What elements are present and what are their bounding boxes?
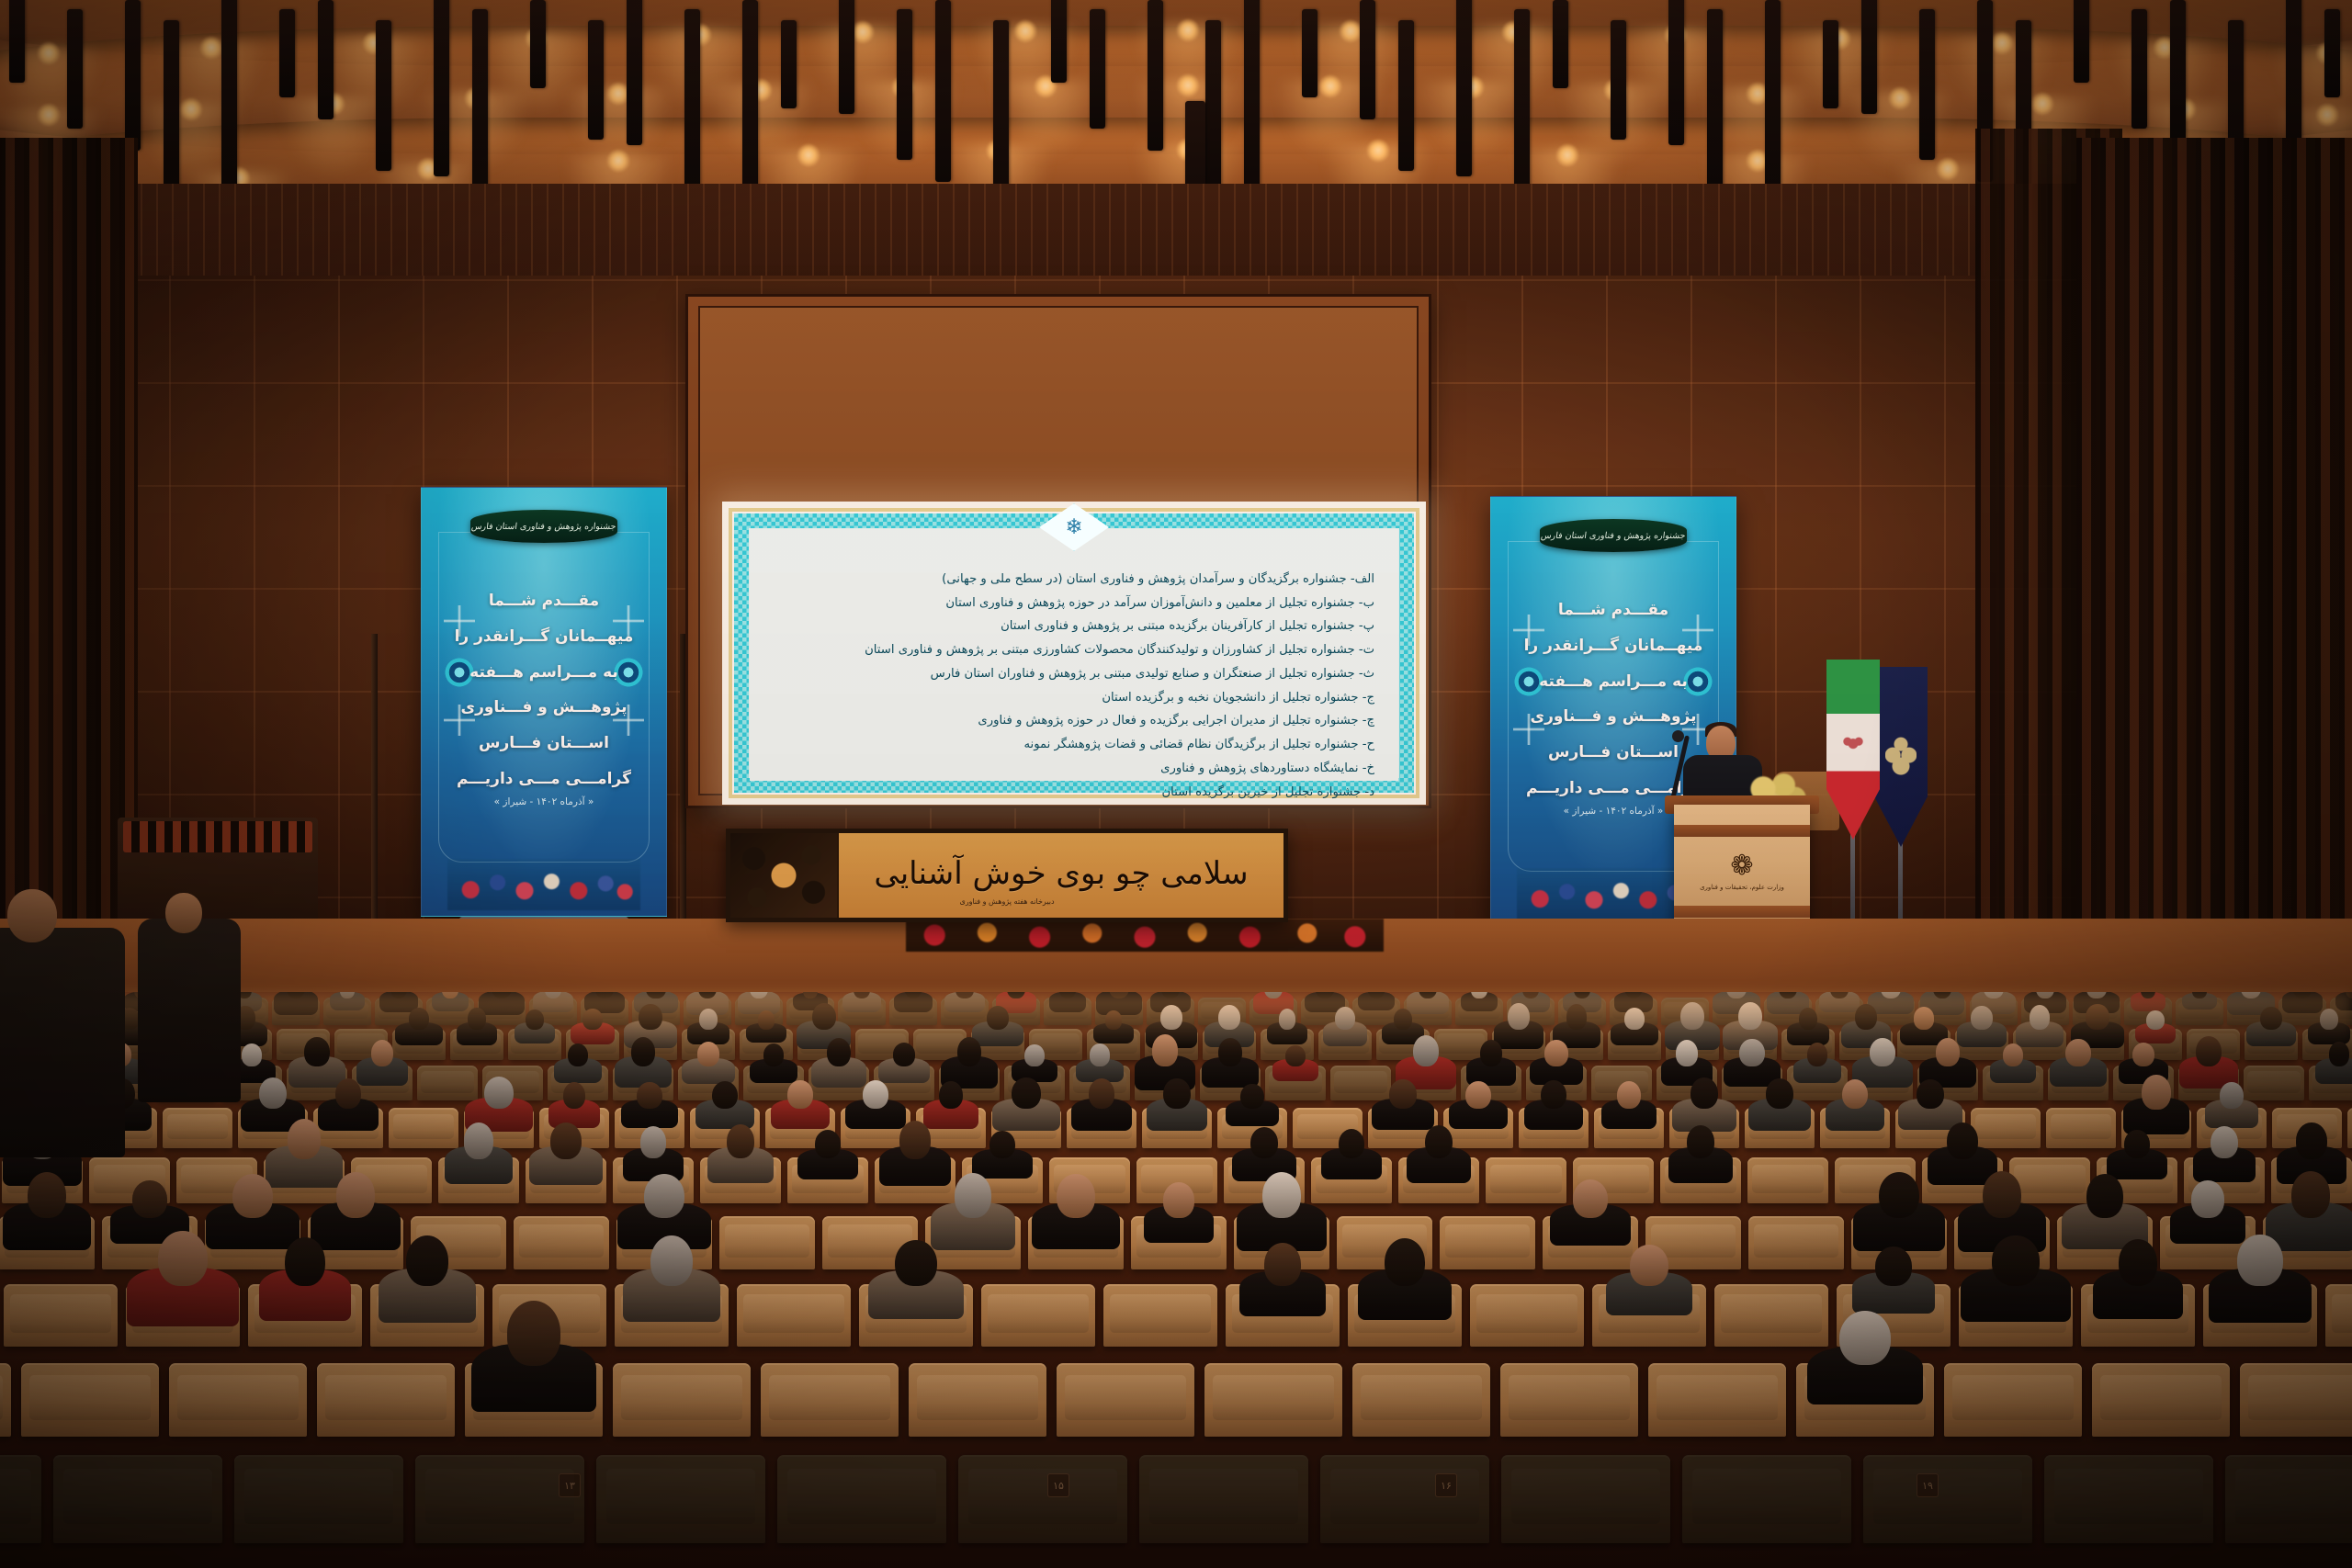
slide-line: د- جشنواره تجلیل از خیرین برگزیده استان: [774, 781, 1374, 805]
stage-curtain-right: [2076, 138, 2352, 1020]
acoustic-baffle-icon: [2074, 0, 2089, 83]
audience-member: [640, 1126, 667, 1158]
auditorium-seat[interactable]: [1352, 1363, 1490, 1437]
auditorium-seat[interactable]: [1863, 1455, 2032, 1543]
acoustic-baffle-icon: [1765, 0, 1781, 213]
acoustic-baffle-icon: [1148, 0, 1163, 151]
audience-member: [563, 1082, 586, 1109]
auditorium-seat[interactable]: [1747, 1157, 1828, 1203]
audience-member: [406, 1235, 448, 1287]
auditorium-seat[interactable]: [737, 1284, 851, 1347]
auditorium-seat[interactable]: [1057, 1363, 1194, 1437]
auditorium-seat[interactable]: [2046, 1108, 2116, 1148]
audience-member: [1983, 1171, 2020, 1218]
audience-member: [863, 1080, 888, 1109]
auditorium-seat[interactable]: [613, 1363, 751, 1437]
audience-member: [1541, 1080, 1566, 1110]
audience-member: [1687, 1125, 1715, 1159]
crest-glyph: ❄: [1065, 517, 1082, 538]
acoustic-baffle-icon: [67, 9, 83, 129]
seat-number-plate: ۱۵: [1047, 1473, 1069, 1497]
audience-member: [2191, 1180, 2223, 1218]
audience-member: [1163, 1182, 1193, 1217]
acoustic-baffle-icon: [1456, 0, 1472, 176]
audience-member: [650, 1235, 693, 1286]
auditorium-seat[interactable]: [1330, 1066, 1391, 1100]
auditorium-seat[interactable]: [2044, 1455, 2213, 1543]
banner-line: پژوهـــش و فـــناوری: [422, 690, 666, 726]
audience-member: [1617, 1081, 1641, 1109]
acoustic-baffle-icon: [1919, 9, 1935, 160]
banner-line: میهــمانان گـــرانقدر را: [422, 619, 666, 655]
standing-attendee-foreground: [0, 928, 125, 1157]
audience-member: [1766, 1078, 1793, 1109]
auditorium-seat[interactable]: [2225, 1455, 2352, 1543]
slide-content-area: الف- جشنواره برگزیدگان و سرآمدان پژوهش و…: [750, 529, 1398, 781]
auditorium-seat[interactable]: [163, 1108, 232, 1148]
stage-calligraphy-banner: سلامی چو بوی خوش آشنایی دبیرخانه هفته پژ…: [726, 829, 1288, 922]
acoustic-baffle-icon: [1398, 20, 1414, 171]
auditorium-seat[interactable]: [1648, 1363, 1786, 1437]
auditorium-seat[interactable]: [1944, 1363, 2082, 1437]
audience-member: [1250, 1127, 1278, 1158]
banner-badge-text: جشنواره پژوهش و فناوری استان فارس: [1541, 531, 1687, 541]
projected-slide: ❄ الف- جشنواره برگزیدگان و سرآمدان پژوهش…: [722, 502, 1426, 805]
persian-medallion-icon: [730, 833, 839, 918]
slide-line: ث- جشنواره تجلیل از صنعتگران و صنایع تول…: [774, 662, 1374, 686]
audience-member: [1089, 1078, 1115, 1110]
acoustic-baffle-icon: [9, 0, 25, 83]
banner-date-text: « آذرماه ۱۴۰۲ - شیراز »: [422, 796, 666, 807]
acoustic-baffle-icon: [221, 0, 237, 208]
audience-member: [1992, 1235, 2040, 1286]
audience-member: [1842, 1079, 1868, 1110]
auditorium-seat[interactable]: [169, 1363, 307, 1437]
audience-member: [939, 1081, 963, 1110]
slide-line: پ- جشنواره تجلیل از کارآفرینان برگزیده م…: [774, 615, 1374, 638]
auditorium-seat[interactable]: [317, 1363, 455, 1437]
aisle-light-glow: [0, 994, 2352, 1049]
audience-member: [1262, 1172, 1301, 1218]
acoustic-baffle-icon: [684, 9, 700, 191]
auditorium-seat[interactable]: [1748, 1216, 1844, 1269]
auditorium-seat[interactable]: [777, 1455, 946, 1543]
auditorium-seat[interactable]: [1103, 1284, 1217, 1347]
acoustic-baffle-icon: [1668, 0, 1684, 145]
audience-member: [2220, 1082, 2243, 1109]
slide-line: خ- نمایشگاه دستاوردهای پژوهش و فناوری: [774, 757, 1374, 781]
acoustic-baffle-icon: [1611, 20, 1626, 140]
banner-line: اســـتان فـــارس: [422, 726, 666, 761]
audience-member: [1389, 1079, 1416, 1109]
auditorium-seat[interactable]: [514, 1216, 609, 1269]
banner-title-badge: جشنواره پژوهش و فناوری استان فارس: [470, 510, 617, 543]
acoustic-baffle-icon: [1302, 9, 1317, 97]
calligraphy-text: سلامی چو بوی خوش آشنایی: [839, 858, 1283, 893]
banner-line: به مـــراسم هـــفته: [422, 655, 666, 691]
podium: ❁ وزارت علوم، تحقیقات و فناوری: [1674, 805, 1810, 928]
acoustic-baffle-icon: [1707, 9, 1723, 191]
acoustic-baffle-icon: [1823, 20, 1838, 108]
audience-member: [335, 1078, 361, 1110]
auditorium-seat[interactable]: [1204, 1363, 1342, 1437]
auditorium-seat[interactable]: [958, 1455, 1127, 1543]
audience-member: [1240, 1084, 1263, 1109]
ministry-of-science-logo-icon: ❁: [1730, 852, 1753, 880]
audience-member: [1385, 1238, 1425, 1287]
slide-line: ذ- جشنواره تخصصی تجلیل از بانوان فعال در…: [774, 804, 1374, 805]
audience-member: [288, 1119, 322, 1159]
acoustic-baffle-icon: [588, 20, 604, 140]
acoustic-baffle-icon: [164, 20, 179, 202]
auditorium-seat[interactable]: [53, 1455, 222, 1543]
banner-line: پژوهـــش و فـــناوری: [1491, 699, 1736, 735]
audience-member: [727, 1124, 755, 1159]
auditorium-seat[interactable]: [21, 1363, 159, 1437]
auditorium-seat[interactable]: [1682, 1455, 1851, 1543]
auditorium-seat[interactable]: [1470, 1284, 1584, 1347]
auditorium-seat[interactable]: [0, 1455, 41, 1543]
auditorium-seat[interactable]: [1486, 1157, 1566, 1203]
auditorium-seat[interactable]: [417, 1066, 478, 1100]
acoustic-baffle-icon: [279, 9, 295, 97]
banner-line: گرامـــی مـــی داریـــم: [422, 761, 666, 797]
acoustic-baffle-icon: [376, 20, 391, 171]
auditorium-seat[interactable]: [0, 1363, 11, 1437]
audience-member: [336, 1172, 376, 1218]
standing-attendee-head: [7, 889, 57, 942]
auditorium-seat[interactable]: [415, 1455, 584, 1543]
audience-member: [464, 1122, 493, 1158]
auditorium-photo-scene: ❄ الف- جشنواره برگزیدگان و سرآمدان پژوهش…: [0, 0, 2352, 1568]
audience-member: [2142, 1075, 2170, 1110]
acoustic-baffle-icon: [125, 0, 141, 151]
downlight-beam: [278, 97, 389, 180]
auditorium-seat[interactable]: [2009, 1157, 2090, 1203]
acoustic-baffle-icon: [434, 0, 449, 176]
auditorium-seat[interactable]: [2347, 1108, 2352, 1148]
auditorium-seat[interactable]: [1971, 1108, 2041, 1148]
podium-trim-band: [1674, 825, 1810, 837]
audience-member: [1839, 1311, 1890, 1365]
audience-member: [1879, 1172, 1919, 1218]
audience-member: [1630, 1245, 1668, 1286]
downlight-beam: [1418, 81, 1528, 164]
audience-member: [2119, 1239, 2158, 1286]
audience-member: [484, 1077, 514, 1109]
audience-member: [2296, 1122, 2326, 1158]
acoustic-baffle-icon: [1553, 0, 1568, 88]
slide-line: ج- جشنواره تجلیل از دانشجویان نخبه و برگ…: [774, 686, 1374, 710]
audience-member: [895, 1240, 936, 1287]
auditorium-seat[interactable]: [2325, 1284, 2352, 1347]
acoustic-baffle-icon: [2170, 0, 2186, 151]
audience-member: [637, 1082, 661, 1110]
auditorium-seat[interactable]: [2240, 1363, 2352, 1437]
calligraphy-subtext: دبیرخانه هفته پژوهش و فناوری: [959, 897, 1054, 906]
auditorium-seat[interactable]: [761, 1363, 899, 1437]
seat-number-plate: ۱۳: [559, 1473, 581, 1497]
slide-line: ت- جشنواره تجلیل از کشاورزان و تولیدکنند…: [774, 638, 1374, 662]
podium-trim-band: [1674, 906, 1810, 918]
auditorium-seat[interactable]: [389, 1108, 458, 1148]
auditorium-seat[interactable]: [2092, 1363, 2230, 1437]
auditorium-seat[interactable]: [1500, 1363, 1638, 1437]
banner-line: میهــمانان گـــرانقدر را: [1491, 628, 1736, 664]
acoustic-baffle-icon: [1051, 0, 1067, 83]
auditorium-seat[interactable]: [1139, 1455, 1308, 1543]
acoustic-baffle-icon: [2324, 9, 2340, 97]
audience-member: [132, 1180, 166, 1217]
audience-member: [1947, 1122, 1977, 1159]
acoustic-baffle-icon: [1205, 20, 1221, 202]
audience-member: [2086, 1174, 2124, 1218]
auditorium-seat[interactable]: [1501, 1455, 1670, 1543]
audience-member: [1573, 1179, 1608, 1218]
acoustic-baffle-icon: [2131, 9, 2147, 129]
audience-member: [712, 1081, 738, 1110]
audience-member: [550, 1122, 582, 1159]
seat-number-plate: ۱۶: [1435, 1473, 1457, 1497]
audience-member: [158, 1231, 207, 1287]
acoustic-baffle-icon: [1090, 9, 1105, 129]
banner-line: مقـــدم شـــما: [422, 583, 666, 619]
auditorium-seat[interactable]: [719, 1216, 815, 1269]
audience-member: [2291, 1171, 2331, 1218]
acoustic-baffle-icon: [781, 20, 797, 108]
standing-attendee-aisle: [138, 919, 241, 1102]
flower-border-icon: [447, 859, 640, 910]
audience-member: [955, 1173, 991, 1218]
audience-member: [1339, 1129, 1365, 1159]
audience-member: [899, 1121, 931, 1158]
banner-truss-left: [371, 634, 378, 937]
audience-member: [2211, 1126, 2237, 1159]
stage-flower-bed: [906, 919, 1384, 952]
slide-line-list: الف- جشنواره برگزیدگان و سرآمدان پژوهش و…: [774, 568, 1374, 805]
welcome-banner-left: جشنواره پژوهش و فناوری استان فارس مقـــد…: [421, 487, 667, 917]
auditorium-seat[interactable]: [1320, 1455, 1489, 1543]
audience-member: [1264, 1243, 1302, 1286]
audience-member: [232, 1174, 273, 1218]
audience-member: [787, 1080, 812, 1109]
acoustic-baffle-icon: [742, 0, 758, 213]
audience-member: [815, 1130, 842, 1158]
seat-number-plate: ۱۹: [1917, 1473, 1939, 1497]
audience-member: [285, 1237, 325, 1286]
acoustic-baffle-icon: [897, 9, 912, 160]
audience-member: [507, 1301, 561, 1365]
audience-seating-area: ۱۳۱۵۱۶۱۹: [0, 992, 2352, 1568]
banner-welcome-text: مقـــدم شـــمامیهــمانان گـــرانقدر رابه…: [422, 583, 666, 797]
audience-member: [1425, 1125, 1453, 1159]
slide-line: ح- جشنواره تجلیل از برگزیدگان نظام قضائی…: [774, 733, 1374, 757]
acoustic-baffle-icon: [839, 0, 854, 114]
acoustic-baffle-icon: [318, 0, 334, 119]
audience-member: [1012, 1077, 1041, 1109]
audience-member: [2237, 1235, 2282, 1287]
microphone-head-icon: [1672, 730, 1684, 742]
audience-member: [1057, 1174, 1094, 1218]
audience-member: [1917, 1079, 1944, 1110]
acoustic-baffle-icon: [1861, 0, 1877, 114]
banner-line: به مـــراسم هـــفته: [1491, 664, 1736, 700]
banner-line: مقـــدم شـــما: [1491, 592, 1736, 628]
standing-attendee-head: [165, 893, 202, 933]
auditorium-seat[interactable]: [1714, 1284, 1828, 1347]
audience-member: [1875, 1247, 1912, 1285]
acoustic-baffle-icon: [627, 0, 642, 145]
stage-loudspeaker-stack: [118, 818, 318, 935]
auditorium-seat[interactable]: [981, 1284, 1095, 1347]
acoustic-baffle-icon: [530, 0, 546, 88]
audience-member: [1465, 1081, 1491, 1109]
audience-member: [989, 1131, 1015, 1158]
audience-member: [644, 1174, 684, 1218]
banner-badge-text: جشنواره پژوهش و فناوری استان فارس: [471, 522, 617, 532]
podium-logo-caption: وزارت علوم، تحقیقات و فناوری: [1700, 884, 1784, 891]
slide-line: الف- جشنواره برگزیدگان و سرآمدان پژوهش و…: [774, 568, 1374, 592]
auditorium-seat[interactable]: [596, 1455, 765, 1543]
acoustic-baffle-icon: [1244, 0, 1260, 208]
slide-line: ب- جشنواره تجلیل از معلمین و دانش‌آموزان…: [774, 592, 1374, 615]
auditorium-seat[interactable]: [909, 1363, 1046, 1437]
acoustic-baffle-icon: [935, 0, 951, 182]
audience-member: [259, 1077, 287, 1109]
slide-line: چ- جشنواره تجلیل از مدیران اجرایی برگزید…: [774, 709, 1374, 733]
auditorium-seat[interactable]: [1440, 1216, 1535, 1269]
auditorium-seat[interactable]: [234, 1455, 403, 1543]
audience-member: [2124, 1130, 2151, 1158]
acoustic-baffle-icon: [1360, 0, 1375, 119]
audience-member: [1163, 1078, 1190, 1109]
audience-member: [28, 1172, 66, 1218]
banner-title-badge: جشنواره پژوهش و فناوری استان فارس: [1540, 519, 1687, 552]
auditorium-seat[interactable]: [2244, 1066, 2304, 1100]
audience-member: [1690, 1077, 1718, 1109]
auditorium-seat[interactable]: [4, 1284, 118, 1347]
